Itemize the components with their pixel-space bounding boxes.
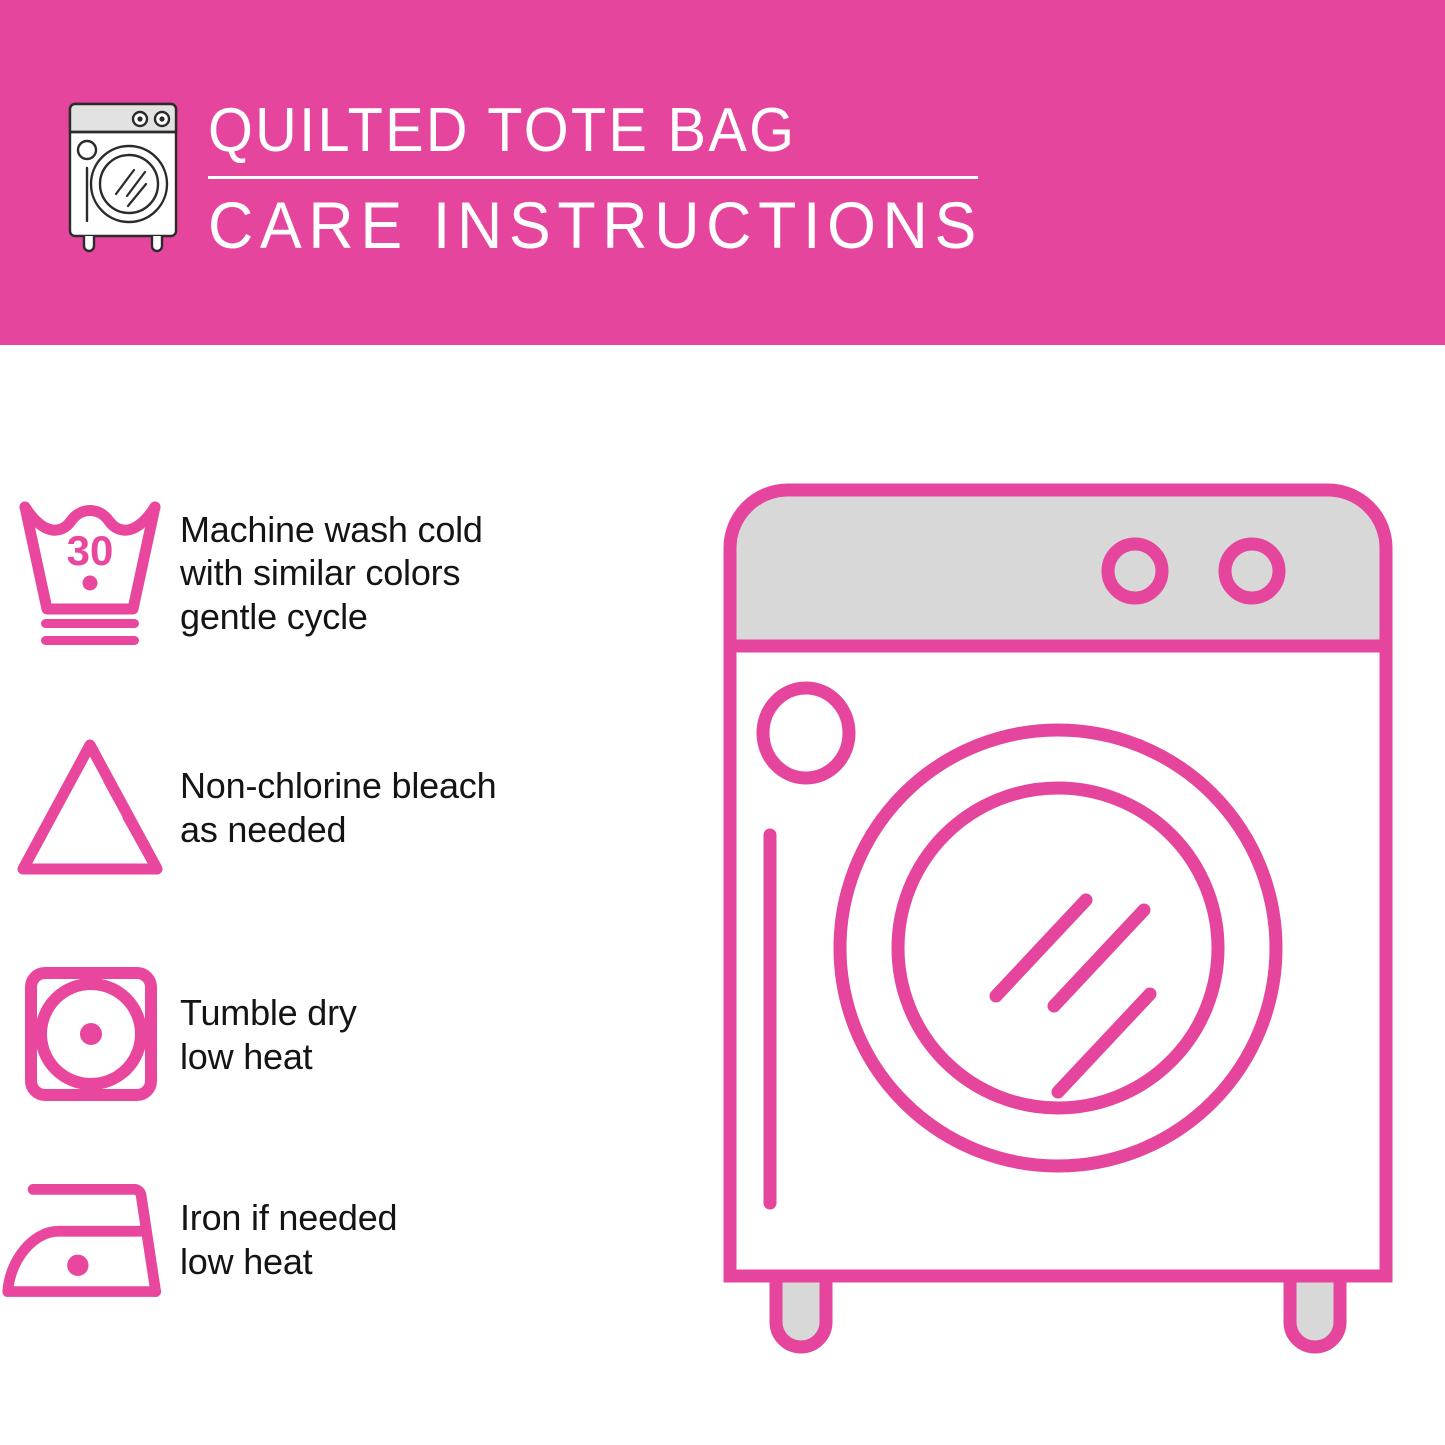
- tumble-dry-low-symbol: [0, 960, 180, 1110]
- care-item-label: Machine wash cold with similar colors ge…: [180, 508, 690, 639]
- care-item-bleach: Non-chlorine bleach as needed: [0, 733, 690, 883]
- page-subtitle: CARE INSTRUCTIONS: [208, 191, 959, 260]
- non-chlorine-bleach-symbol: [0, 733, 180, 883]
- page-title: QUILTED TOTE BAG: [208, 100, 943, 162]
- front-load-washing-machine-illustration: [718, 478, 1398, 1368]
- header-text-block: QUILTED TOTE BAG CARE INSTRUCTIONS: [208, 100, 998, 260]
- care-item-label: Iron if needed low heat: [180, 1196, 690, 1283]
- washing-machine-icon: [58, 98, 188, 256]
- iron-low-heat-symbol: [0, 1165, 180, 1315]
- header-band: QUILTED TOTE BAG CARE INSTRUCTIONS: [0, 0, 1445, 345]
- care-item-label: Non-chlorine bleach as needed: [180, 764, 690, 851]
- title-divider: [208, 176, 978, 179]
- care-item-machine-wash: 30 Machine wash cold with similar colors…: [0, 493, 690, 653]
- care-item-label: Tumble dry low heat: [180, 991, 690, 1078]
- care-item-tumble-dry: Tumble dry low heat: [0, 960, 690, 1110]
- care-instruction-list: 30 Machine wash cold with similar colors…: [0, 345, 700, 1445]
- svg-text:30: 30: [67, 527, 114, 574]
- care-item-iron: Iron if needed low heat: [0, 1165, 690, 1315]
- care-instructions-page: QUILTED TOTE BAG CARE INSTRUCTIONS 30: [0, 0, 1445, 1445]
- machine-wash-30-gentle-symbol: 30: [0, 493, 180, 653]
